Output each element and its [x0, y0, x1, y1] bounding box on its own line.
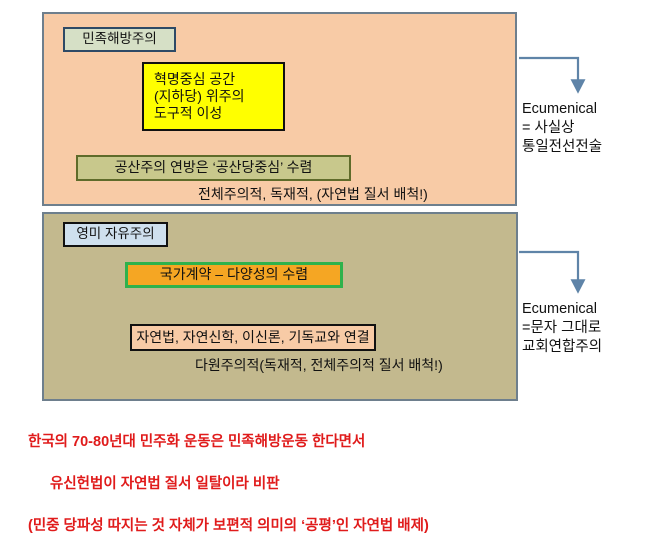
connector-panel-top-to-annotation [519, 58, 578, 88]
annotation-ecumenical-church-union: Ecumenical =문자 그대로 교회연합주의 [522, 300, 650, 357]
node-communist-federation[interactable]: 공산주의 연방은 ‘공산당중심’ 수렴 [76, 155, 351, 181]
node-national-liberationism[interactable]: 민족해방주의 [63, 27, 176, 52]
red-footnote-line-1: 한국의 70-80년대 민주화 운동은 민족해방운동 한다면서 [28, 432, 628, 453]
red-footnote: 한국의 70-80년대 민주화 운동은 민족해방운동 한다면서 유신헌법이 자연… [28, 411, 628, 558]
node-revolution-centered-space[interactable]: 혁명중심 공간 (지하당) 위주의 도구적 이성 [142, 62, 285, 131]
node-state-contract[interactable]: 국가계약 – 다양성의 수렴 [125, 262, 343, 288]
annotation-ecumenical-united-front: Ecumenical = 사실상 통일전선전술 [522, 100, 650, 157]
red-footnote-line-2: 유신헌법이 자연법 질서 일탈이라 비판 [28, 474, 628, 495]
node-natural-law-link[interactable]: 자연법, 자연신학, 이신론, 기독교와 연결 [130, 324, 376, 351]
connector-panel-bottom-to-annotation [519, 252, 578, 288]
node-anglo-american-liberalism[interactable]: 영미 자유주의 [63, 222, 168, 247]
red-footnote-line-3: (민중 당파성 따지는 것 자체가 보편적 의미의 ‘공평’인 자연법 배제) [28, 516, 628, 537]
caption-pluralistic: 다원주의적(독재적, 전체주의적 질서 배척!) [195, 355, 525, 375]
caption-totalitarian: 전체주의적, 독재적, (자연법 질서 배척!) [198, 184, 498, 204]
